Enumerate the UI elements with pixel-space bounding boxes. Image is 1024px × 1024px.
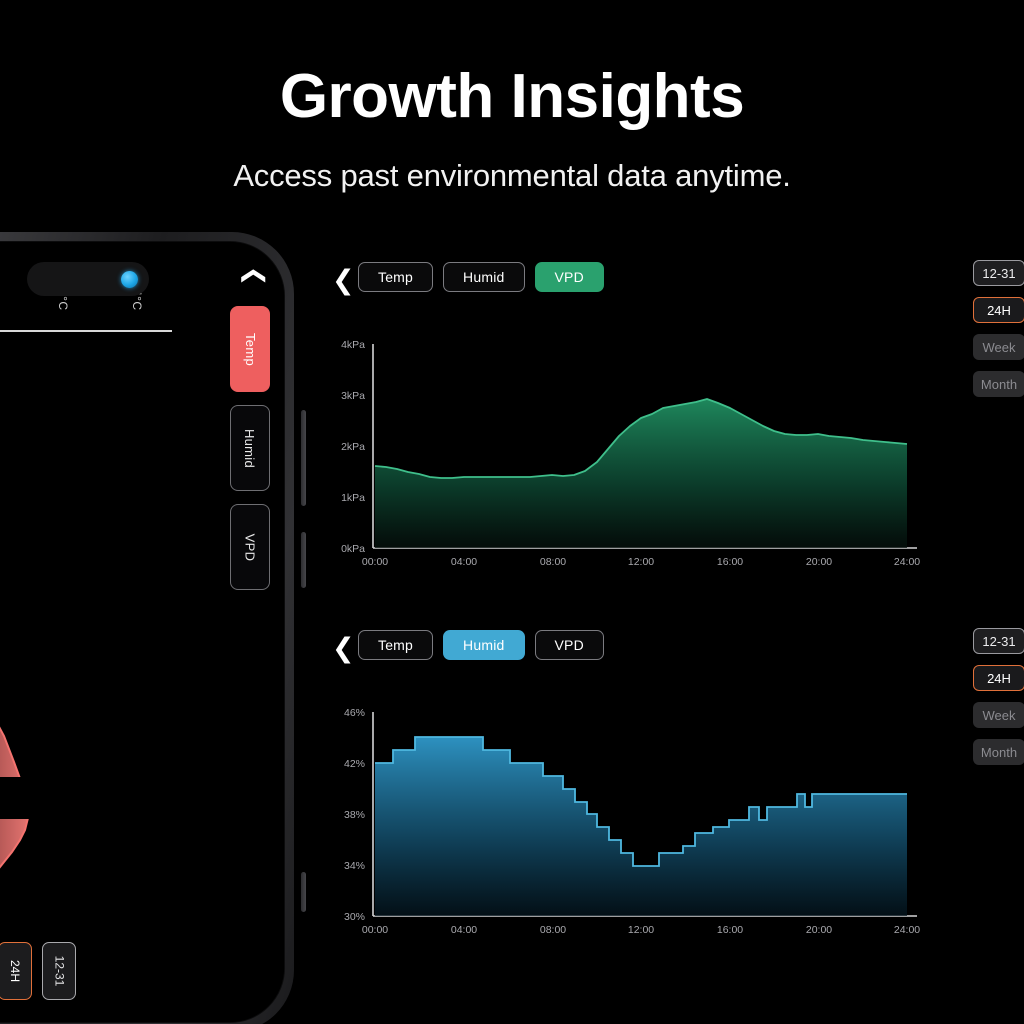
range-month[interactable]: Month [973, 371, 1024, 397]
hum-xtick-3: 12:00 [628, 924, 654, 936]
page-subtitle: Access past environmental data anytime. [0, 158, 1024, 194]
vpd-ytick-0: 0kPa [341, 543, 365, 555]
phone-range-24h[interactable]: 24H [0, 942, 32, 1000]
range-date[interactable]: 12-31 [973, 260, 1024, 286]
phone-metric-tabs: Temp Humid VPD [230, 306, 270, 603]
hum-xtick-1: 04:00 [451, 924, 477, 936]
range-month[interactable]: Month [973, 739, 1024, 765]
tab-vpd[interactable]: VPD [535, 630, 604, 660]
humidity-area [375, 737, 907, 916]
vpd-xtick-4: 16:00 [717, 556, 743, 568]
phone-range-date-label: 12-31 [52, 956, 66, 987]
phone-range-24h-label: 24H [8, 960, 22, 982]
range-week[interactable]: Week [973, 334, 1024, 360]
phone-tab-humid[interactable]: Humid [230, 405, 270, 491]
phone-axis-line [0, 330, 172, 332]
power-button[interactable] [301, 872, 306, 912]
phone-bezel: 18°C 20°C 22°C 24°C [0, 241, 285, 1023]
hum-ytick-0: 30% [344, 911, 365, 923]
phone-temperature-chart [0, 332, 130, 972]
hum-xtick-0: 00:00 [362, 924, 388, 936]
tab-humid[interactable]: Humid [443, 262, 524, 292]
vpd-panel: ❮ Temp Humid VPD 12-31 24H Week Month [325, 262, 1024, 568]
hum-xtick-6: 24:00 [894, 924, 920, 936]
vpd-area [375, 399, 907, 548]
range-24h[interactable]: 24H [973, 665, 1024, 691]
phone-tab-temp-label: Temp [243, 333, 258, 366]
phone-tab-vpd[interactable]: VPD [230, 504, 270, 590]
vpd-metric-tabs: Temp Humid VPD [358, 262, 604, 292]
vpd-xtick-5: 20:00 [806, 556, 832, 568]
hum-xtick-2: 08:00 [540, 924, 566, 936]
hum-xtick-5: 20:00 [806, 924, 832, 936]
back-chevron-icon[interactable]: ❮ [332, 266, 355, 294]
phone-range-date[interactable]: 12-31 [42, 942, 76, 1000]
vpd-ytick-1: 1kPa [341, 492, 365, 504]
poster-root: Growth Insights Access past environmenta… [0, 0, 1024, 1024]
vpd-chart: 4kPa 3kPa 2kPa 1kPa 0kPa 00:00 04:00 08:… [325, 318, 925, 568]
page-title: Growth Insights [0, 66, 1024, 128]
humidity-chart: 46% 42% 38% 34% 30% 00:00 04:00 08:00 12… [325, 686, 925, 936]
phone-tab-vpd-label: VPD [242, 533, 257, 561]
range-date[interactable]: 12-31 [973, 628, 1024, 654]
vpd-xtick-2: 08:00 [540, 556, 566, 568]
range-24h[interactable]: 24H [973, 297, 1024, 323]
tab-temp[interactable]: Temp [358, 262, 433, 292]
hum-ytick-3: 42% [344, 758, 365, 770]
vpd-ytick-3: 3kPa [341, 390, 365, 402]
vpd-range-buttons: 12-31 24H Week Month [973, 260, 1024, 408]
camera-indicator-dot [121, 271, 138, 288]
volume-down-button[interactable] [301, 532, 306, 588]
phone-temp-line [0, 332, 28, 972]
hum-xtick-4: 16:00 [717, 924, 743, 936]
hum-ytick-4: 46% [344, 707, 365, 719]
humidity-panel-header: ❮ Temp Humid VPD 12-31 24H Week Month [325, 630, 1024, 672]
vpd-xtick-3: 12:00 [628, 556, 654, 568]
range-week[interactable]: Week [973, 702, 1024, 728]
phone-temp-area [0, 332, 28, 972]
humidity-panel: ❮ Temp Humid VPD 12-31 24H Week Month [325, 630, 1024, 936]
hum-ytick-1: 34% [344, 860, 365, 872]
vpd-xtick-1: 04:00 [451, 556, 477, 568]
vpd-xtick-0: 00:00 [362, 556, 388, 568]
phone-tab-temp[interactable]: Temp [230, 306, 270, 392]
tab-temp[interactable]: Temp [358, 630, 433, 660]
tab-vpd[interactable]: VPD [535, 262, 604, 292]
dynamic-island [27, 262, 149, 296]
vpd-ytick-4: 4kPa [341, 339, 365, 351]
hum-ytick-2: 38% [344, 809, 365, 821]
tab-humid[interactable]: Humid [443, 630, 524, 660]
vpd-panel-header: ❮ Temp Humid VPD 12-31 24H Week Month [325, 262, 1024, 304]
hero-section: Growth Insights Access past environmenta… [0, 0, 1024, 194]
phone-tab-humid-label: Humid [243, 428, 258, 467]
volume-up-button[interactable] [301, 410, 306, 506]
chart-occluder [0, 777, 42, 819]
back-chevron-icon[interactable]: ❮ [332, 634, 355, 662]
phone-screen: 18°C 20°C 22°C 24°C [0, 242, 284, 1022]
phone-mockup: 18°C 20°C 22°C 24°C [0, 232, 294, 1024]
humidity-metric-tabs: Temp Humid VPD [358, 630, 604, 660]
humidity-range-buttons: 12-31 24H Week Month [973, 628, 1024, 776]
phone-range-buttons: Month Week 24H 12-31 [0, 942, 76, 1000]
vpd-ytick-2: 2kPa [341, 441, 365, 453]
vpd-xtick-6: 24:00 [894, 556, 920, 568]
phone-back-chevron-icon[interactable]: ❮ [242, 266, 266, 286]
